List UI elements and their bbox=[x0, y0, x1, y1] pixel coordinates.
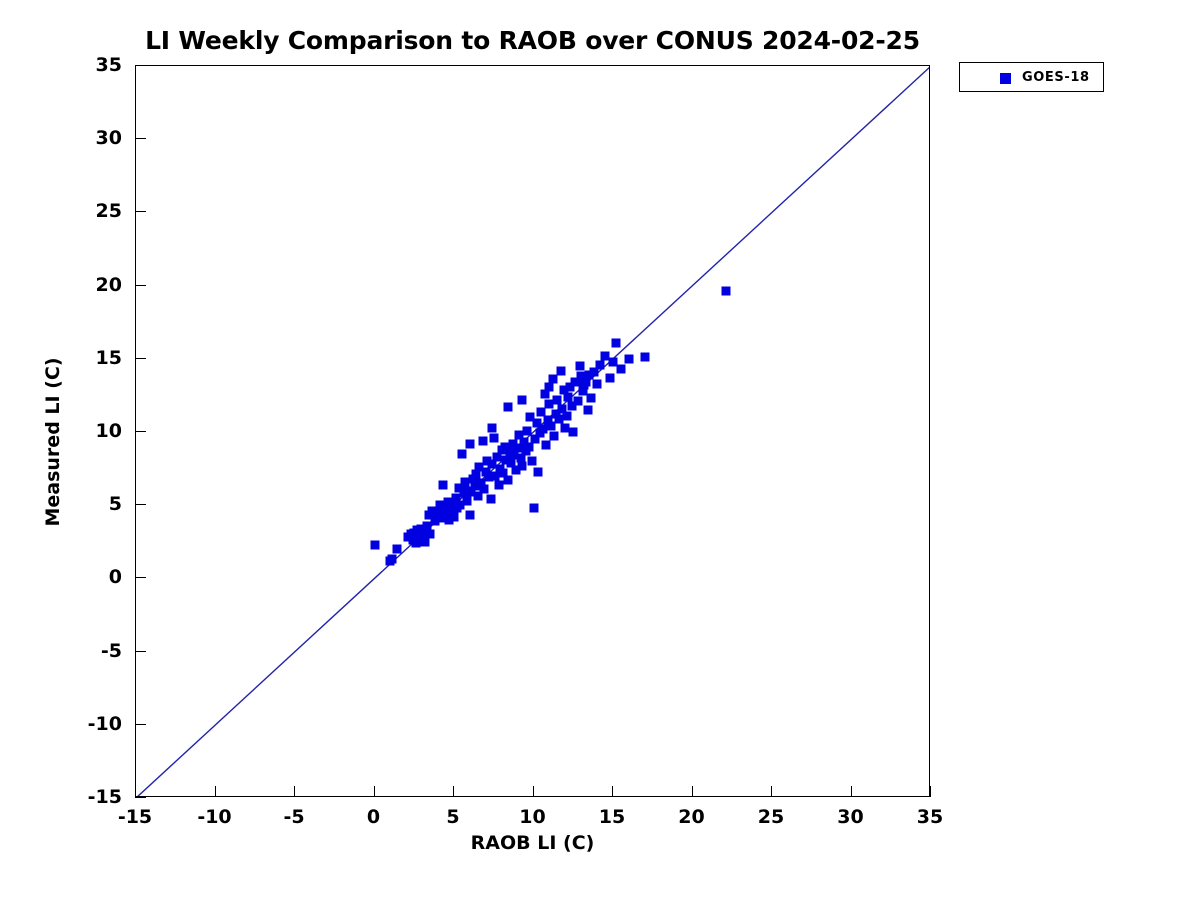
y-tick-mark bbox=[135, 138, 146, 139]
data-point bbox=[529, 504, 538, 513]
data-point bbox=[534, 467, 543, 476]
y-tick-mark bbox=[135, 285, 146, 286]
y-tick-label: 0 bbox=[62, 566, 122, 588]
data-point bbox=[494, 480, 503, 489]
x-tick-mark bbox=[612, 786, 613, 797]
data-point bbox=[575, 362, 584, 371]
x-tick-mark bbox=[453, 786, 454, 797]
data-point bbox=[624, 354, 633, 363]
data-point bbox=[545, 382, 554, 391]
data-point bbox=[564, 392, 573, 401]
y-tick-mark bbox=[135, 724, 146, 725]
data-point bbox=[392, 545, 401, 554]
x-tick-mark bbox=[294, 786, 295, 797]
data-point bbox=[438, 480, 447, 489]
x-tick-label: 25 bbox=[731, 806, 811, 828]
data-point bbox=[640, 353, 649, 362]
data-point bbox=[612, 338, 621, 347]
data-point bbox=[457, 449, 466, 458]
data-point bbox=[616, 365, 625, 374]
y-tick-label: 10 bbox=[62, 420, 122, 442]
one-to-one-line bbox=[136, 66, 929, 796]
x-tick-label: 10 bbox=[493, 806, 573, 828]
y-tick-mark bbox=[135, 797, 146, 798]
y-tick-mark bbox=[135, 577, 146, 578]
y-tick-label: 5 bbox=[62, 493, 122, 515]
y-tick-label: 30 bbox=[62, 127, 122, 149]
x-tick-label: 35 bbox=[890, 806, 970, 828]
data-point bbox=[596, 360, 605, 369]
data-point bbox=[462, 496, 471, 505]
data-point bbox=[480, 485, 489, 494]
plot-canvas bbox=[136, 66, 929, 796]
y-tick-label: -5 bbox=[62, 640, 122, 662]
x-tick-label: -10 bbox=[175, 806, 255, 828]
data-point bbox=[550, 432, 559, 441]
legend: GOES-18 bbox=[959, 62, 1104, 92]
x-tick-label: 20 bbox=[652, 806, 732, 828]
chart-page: LI Weekly Comparison to RAOB over CONUS … bbox=[0, 0, 1200, 900]
legend-marker-goes-18 bbox=[1000, 73, 1011, 84]
data-point bbox=[504, 403, 513, 412]
x-tick-mark bbox=[215, 786, 216, 797]
y-tick-label: 25 bbox=[62, 200, 122, 222]
data-point bbox=[387, 555, 396, 564]
data-point bbox=[426, 530, 435, 539]
legend-label-goes-18: GOES-18 bbox=[1022, 70, 1090, 85]
data-point bbox=[527, 457, 536, 466]
data-point bbox=[504, 476, 513, 485]
data-point bbox=[518, 395, 527, 404]
x-tick-mark bbox=[135, 786, 136, 797]
y-tick-label: -10 bbox=[62, 713, 122, 735]
data-point bbox=[523, 426, 532, 435]
y-tick-mark bbox=[135, 358, 146, 359]
data-point bbox=[583, 406, 592, 415]
data-point bbox=[569, 428, 578, 437]
data-point bbox=[465, 511, 474, 520]
x-tick-label: -15 bbox=[95, 806, 175, 828]
data-point bbox=[486, 495, 495, 504]
y-tick-mark bbox=[135, 651, 146, 652]
y-tick-mark bbox=[135, 65, 146, 66]
x-axis-label: RAOB LI (C) bbox=[135, 832, 930, 854]
data-point bbox=[370, 540, 379, 549]
y-tick-mark bbox=[135, 504, 146, 505]
data-point bbox=[586, 394, 595, 403]
x-tick-label: 0 bbox=[334, 806, 414, 828]
x-tick-label: 30 bbox=[811, 806, 891, 828]
data-point bbox=[553, 395, 562, 404]
data-point bbox=[542, 441, 551, 450]
data-point bbox=[488, 423, 497, 432]
x-tick-mark bbox=[533, 786, 534, 797]
x-tick-mark bbox=[692, 786, 693, 797]
data-point bbox=[562, 411, 571, 420]
y-tick-label: 20 bbox=[62, 274, 122, 296]
y-tick-label: 35 bbox=[62, 54, 122, 76]
y-tick-label: 15 bbox=[62, 347, 122, 369]
y-tick-mark bbox=[135, 431, 146, 432]
x-tick-label: 15 bbox=[572, 806, 652, 828]
x-tick-mark bbox=[851, 786, 852, 797]
data-point bbox=[605, 373, 614, 382]
x-tick-mark bbox=[771, 786, 772, 797]
data-point bbox=[489, 433, 498, 442]
plot-area bbox=[135, 65, 930, 797]
y-tick-label: -15 bbox=[62, 786, 122, 808]
x-tick-label: 5 bbox=[413, 806, 493, 828]
data-point bbox=[556, 366, 565, 375]
data-point bbox=[450, 512, 459, 521]
data-point bbox=[593, 379, 602, 388]
y-axis-label: Measured LI (C) bbox=[42, 342, 64, 542]
data-point bbox=[721, 287, 730, 296]
x-tick-label: -5 bbox=[254, 806, 334, 828]
page-title: LI Weekly Comparison to RAOB over CONUS … bbox=[0, 26, 1065, 55]
data-point bbox=[574, 397, 583, 406]
y-tick-mark bbox=[135, 211, 146, 212]
data-point bbox=[478, 436, 487, 445]
data-point bbox=[465, 439, 474, 448]
x-tick-mark bbox=[930, 786, 931, 797]
x-tick-mark bbox=[374, 786, 375, 797]
data-point bbox=[518, 461, 527, 470]
